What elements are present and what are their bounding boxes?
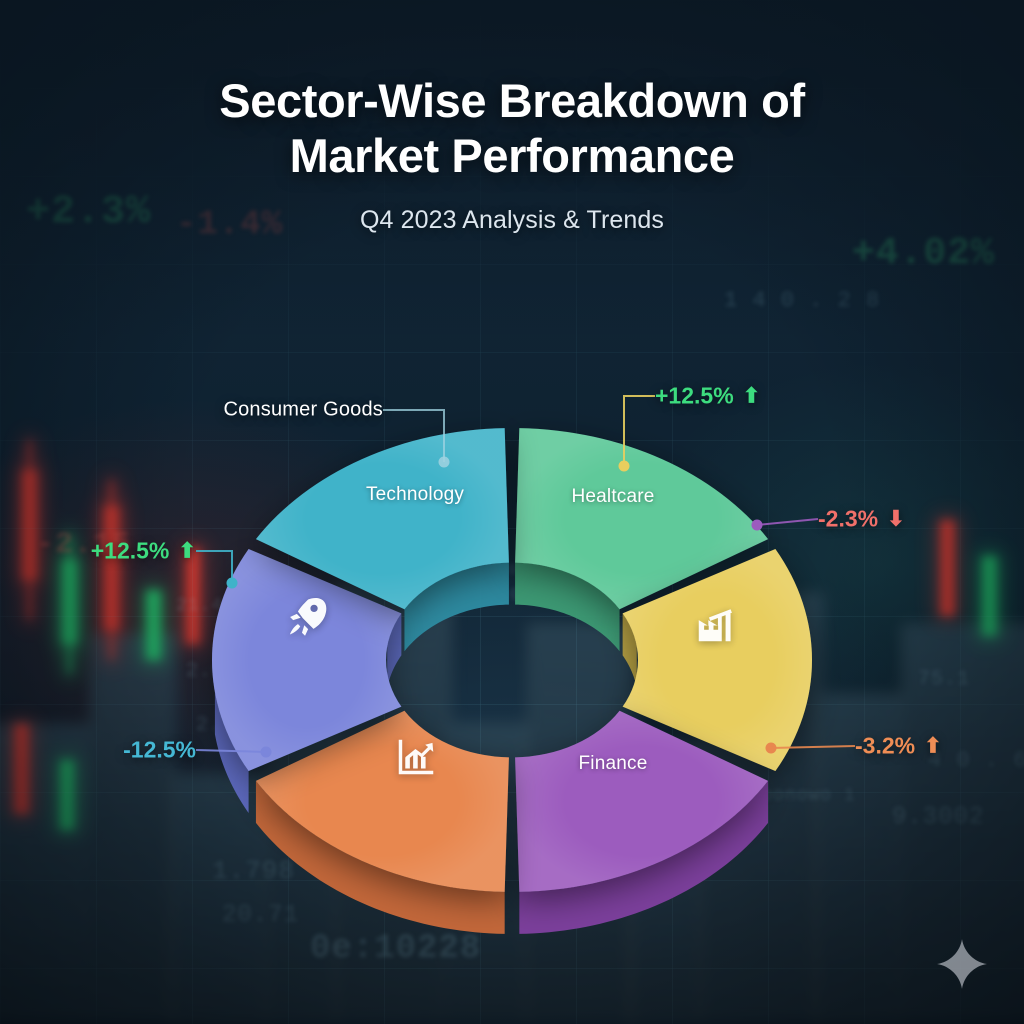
callout-percent-text: -3.2%: [855, 733, 915, 760]
trend-down-icon: ⬇: [887, 509, 905, 530]
factory-icon: [693, 601, 739, 647]
callout-value-growth: +12.5%⬆: [91, 538, 196, 565]
callout-percent-text: -2.3%: [818, 506, 878, 533]
callout-percent-text: +12.5%: [91, 538, 170, 565]
callout-label-consumer-goods: Consumer Goods: [223, 399, 383, 422]
callout-leader-line: [757, 519, 818, 525]
callout-percent-text: +12.5%: [655, 383, 734, 410]
callout-value-markets: -12.5%: [123, 737, 196, 764]
callout-percent-text: -12.5%: [123, 737, 196, 764]
trend-up-icon: ⬆: [178, 541, 196, 562]
infographic-canvas: +2.3% -1.4% -2.15 +4.02% 1 4 0 . 2 8 21.…: [0, 0, 1024, 1024]
trend-up-icon: ⬆: [743, 386, 761, 407]
callout-leader-line: [196, 551, 232, 583]
callout-value-finance: -3.2%⬆: [855, 733, 942, 760]
trend-up-icon: ⬆: [924, 736, 942, 757]
sparkle-icon: [936, 938, 988, 990]
bar-chart-up-icon: [393, 734, 439, 780]
rocket-icon: [283, 594, 329, 640]
callout-value-healtcare: +12.5%⬆: [655, 383, 760, 410]
callout-value-industrials: -2.3%⬇: [818, 506, 905, 533]
